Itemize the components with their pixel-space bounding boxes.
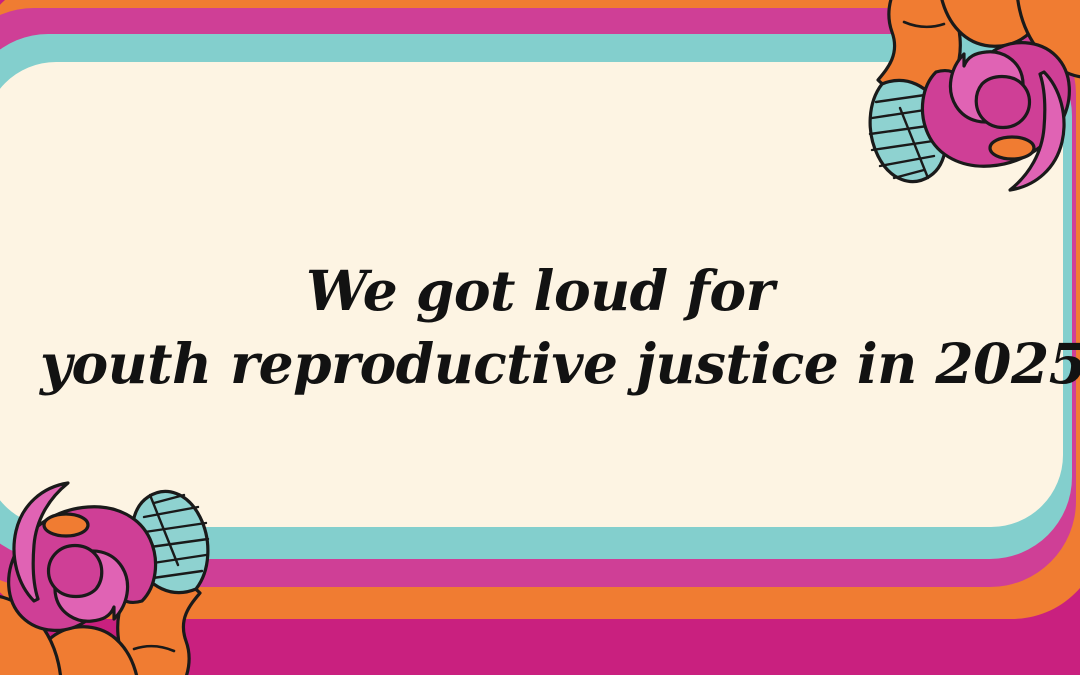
headline-line-1: We got loud for	[40, 255, 1040, 328]
headline-line-2: youth reproductive justice in 2025.	[40, 328, 1040, 401]
poster-canvas: We got loud for youth reproductive justi…	[0, 0, 1080, 675]
headline: We got loud for youth reproductive justi…	[0, 255, 1080, 400]
